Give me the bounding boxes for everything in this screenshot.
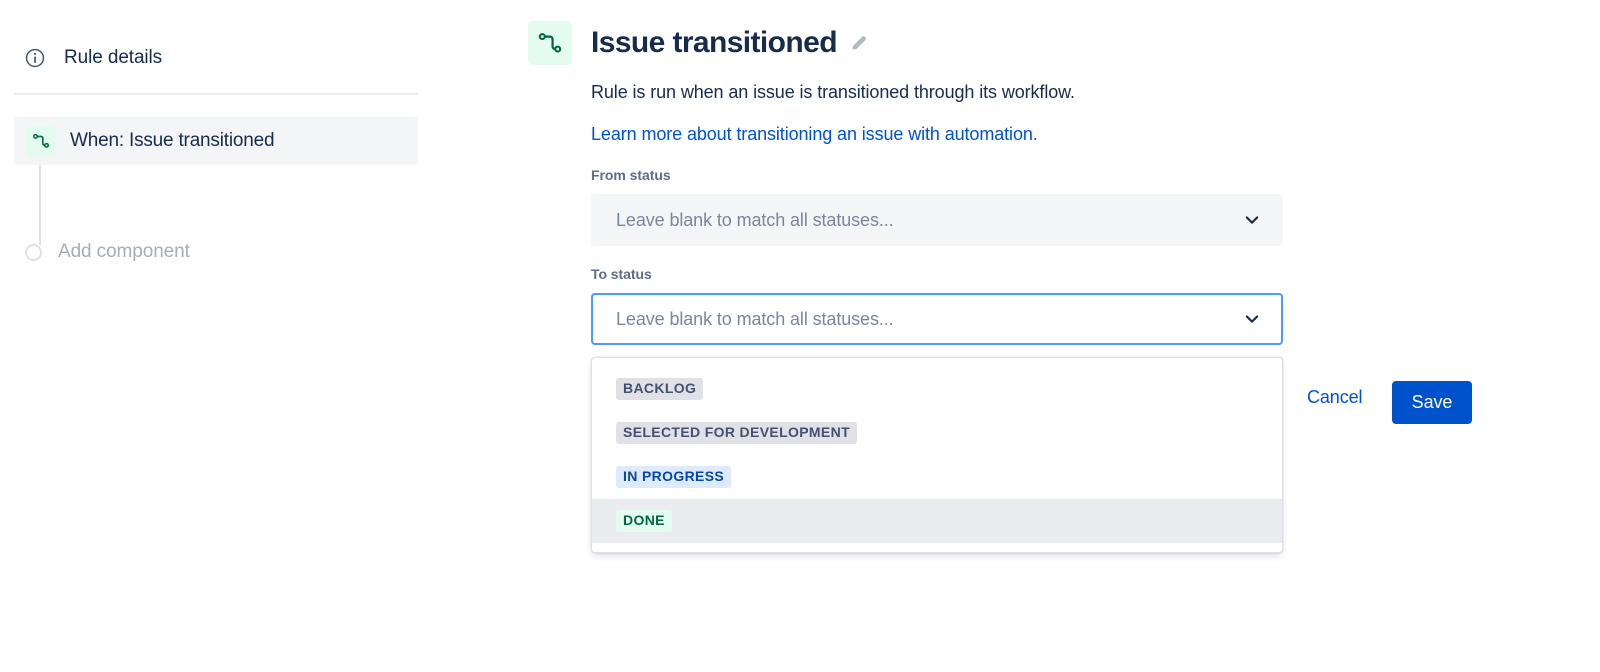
page-title-row: Issue transitioned: [591, 24, 869, 62]
from-status-select[interactable]: Leave blank to match all statuses...: [591, 194, 1283, 246]
chevron-down-icon[interactable]: [1241, 209, 1281, 231]
rule-description: Rule is run when an issue is transitione…: [591, 82, 1075, 103]
chevron-down-icon[interactable]: [1241, 308, 1281, 330]
from-status-placeholder: Leave blank to match all statuses...: [593, 210, 1241, 231]
to-status-placeholder: Leave blank to match all statuses...: [593, 309, 1241, 330]
status-badge: DONE: [616, 510, 672, 532]
status-badge: IN PROGRESS: [616, 466, 731, 488]
status-badge: SELECTED FOR DEVELOPMENT: [616, 422, 857, 444]
header-issue-transitioned-icon: [528, 21, 572, 65]
dropdown-option[interactable]: SELECTED FOR DEVELOPMENT: [592, 411, 1282, 455]
rule-detail-panel: Issue transitioned Rule is run when an i…: [0, 0, 1600, 672]
dropdown-option[interactable]: BACKLOG: [592, 367, 1282, 411]
to-status-select[interactable]: Leave blank to match all statuses...: [591, 293, 1283, 345]
dropdown-option[interactable]: DONE: [592, 499, 1282, 543]
edit-pencil-icon[interactable]: [849, 33, 869, 53]
page-title: Issue transitioned: [591, 24, 837, 62]
from-status-label: From status: [591, 167, 671, 183]
dropdown-option[interactable]: IN PROGRESS: [592, 455, 1282, 499]
cancel-button[interactable]: Cancel: [1307, 387, 1362, 408]
to-status-label: To status: [591, 266, 652, 282]
save-button[interactable]: Save: [1392, 381, 1472, 424]
learn-more-link[interactable]: Learn more about transitioning an issue …: [591, 124, 1038, 145]
to-status-dropdown-menu[interactable]: BACKLOGSELECTED FOR DEVELOPMENTIN PROGRE…: [591, 357, 1283, 553]
status-badge: BACKLOG: [616, 378, 703, 400]
